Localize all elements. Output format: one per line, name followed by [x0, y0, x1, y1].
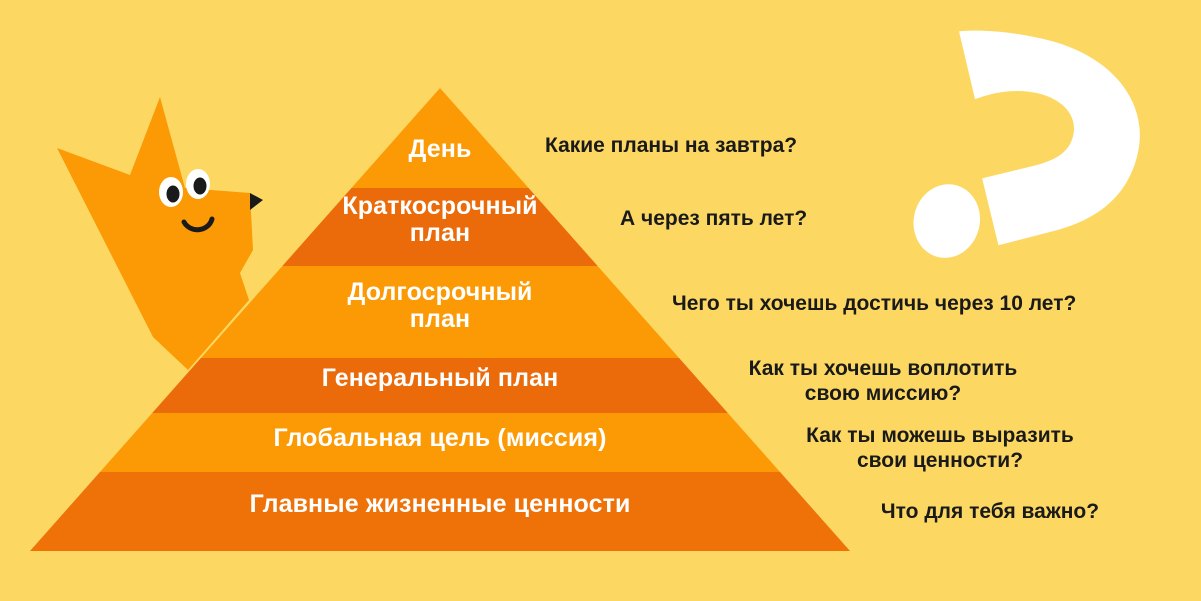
question-tomorrow-plans: Какие планы на завтра? — [545, 133, 845, 158]
illustration-canvas: День Краткосрочный план Долгосрочный пла… — [0, 0, 1201, 601]
question-express-values: Как ты можешь выразить свои ценности? — [780, 423, 1100, 473]
pyramid-band-1 — [0, 188, 1201, 266]
question-five-years: А через пять лет? — [620, 206, 850, 231]
question-what-matters: Что для тебя важно? — [850, 499, 1130, 524]
question-embody-mission: Как ты хочешь воплотить свою миссию? — [728, 356, 1038, 406]
question-ten-years: Чего ты хочешь достичь через 10 лет? — [672, 291, 1142, 316]
